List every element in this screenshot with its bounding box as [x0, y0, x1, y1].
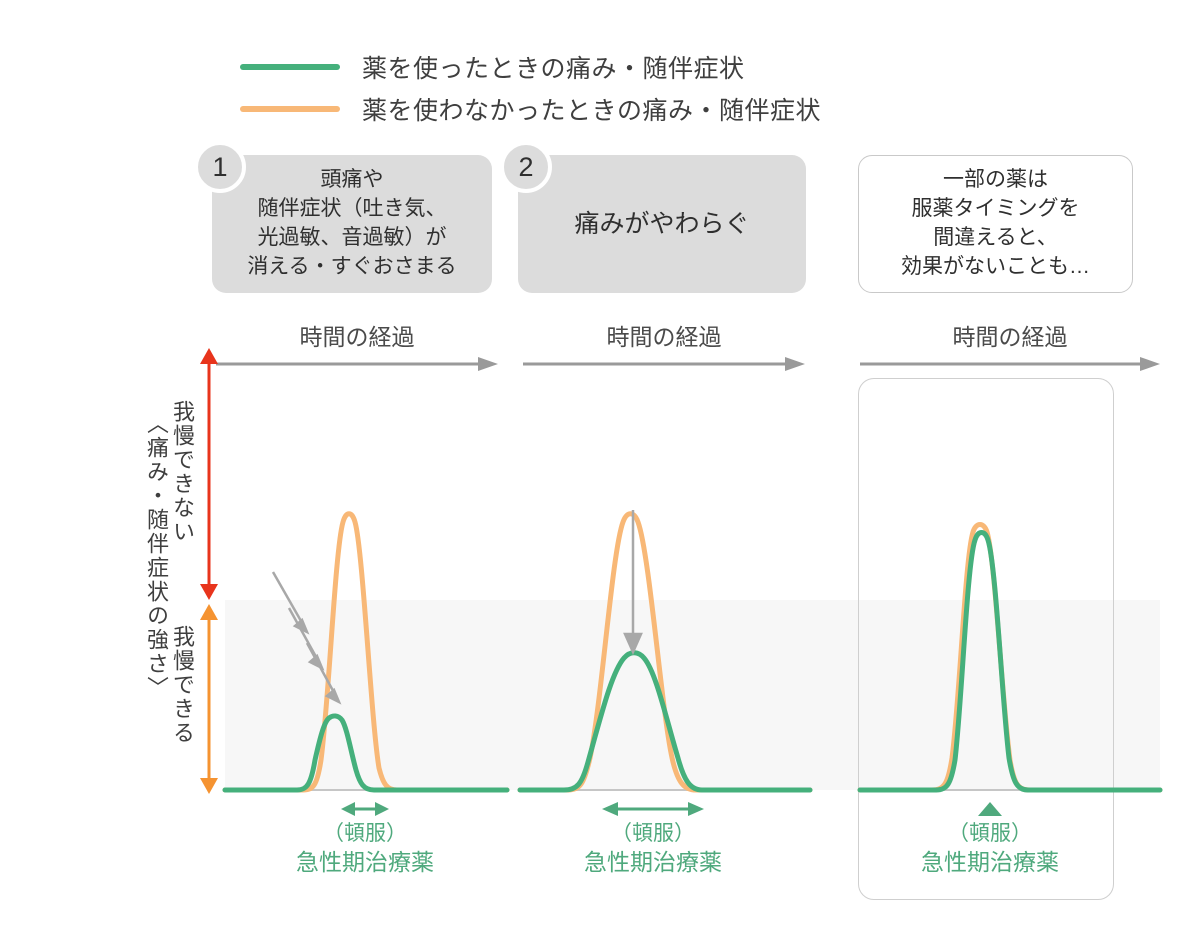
step-text-1: 頭痛や 随伴症状（吐き気、 光過敏、音過敏）が 消える・すぐおさまる: [237, 166, 466, 282]
dose-group-panel-2: （頓服） 急性期治療薬: [548, 798, 758, 878]
step-badge-2: 2: [500, 141, 552, 193]
step-text-3: 一部の薬は 服薬タイミングを 間違えると、 効果がないことも…: [891, 166, 1100, 282]
double-arrow-short-icon: [265, 798, 465, 820]
time-arrow-icon-3: [860, 356, 1160, 372]
legend-swatch-with-medicine: [240, 64, 340, 70]
y-axis-arrows: [196, 348, 222, 800]
dose-marker-3: [885, 798, 1095, 820]
dose-label-line1-2: （頓服）: [548, 820, 758, 847]
legend-item-without-medicine: 薬を使わなかったときの痛み・随伴症状: [240, 88, 960, 130]
legend-swatch-without-medicine: [240, 106, 340, 112]
y-axis-arrow-bearable: [200, 604, 218, 794]
double-arrow-long-icon: [548, 798, 758, 820]
step-badge-1: 1: [194, 141, 246, 193]
step-box-3: 一部の薬は 服薬タイミングを 間違えると、 効果がないことも…: [858, 155, 1133, 293]
step-box-1: 1 頭痛や 随伴症状（吐き気、 光過敏、音過敏）が 消える・すぐおさまる: [212, 155, 492, 293]
dose-label-line2-2: 急性期治療薬: [548, 847, 758, 878]
y-axis-segment-label-unbearable: 我慢できない: [166, 400, 198, 544]
time-axis-panel-1: 時間の経過: [216, 318, 498, 374]
y-axis-segment-label-bearable: 我慢できる: [166, 625, 198, 745]
y-axis-arrow-unbearable: [200, 348, 218, 600]
time-axis-label-3: 時間の経過: [860, 318, 1160, 352]
dose-group-panel-3: （頓服） 急性期治療薬: [885, 798, 1095, 878]
legend-label-without-medicine: 薬を使わなかったときの痛み・随伴症状: [362, 91, 821, 127]
triangle-up-icon: [885, 798, 1095, 820]
time-axis-panel-2: 時間の経過: [523, 318, 805, 374]
dose-label-line1-1: （頓服）: [265, 820, 465, 847]
legend: 薬を使ったときの痛み・随伴症状 薬を使わなかったときの痛み・随伴症状: [240, 46, 960, 130]
curve-with-medicine-1: [225, 716, 507, 790]
time-arrow-icon-2: [523, 356, 805, 372]
curve-with-medicine-3: [860, 533, 1160, 791]
time-axis-panel-3: 時間の経過: [860, 318, 1160, 374]
dose-label-line1-3: （頓服）: [885, 820, 1095, 847]
legend-item-with-medicine: 薬を使ったときの痛み・随伴症状: [240, 46, 960, 88]
plot-panel-2: [520, 400, 810, 798]
plot-panel-3: [860, 400, 1160, 798]
infographic-root: 薬を使ったときの痛み・随伴症状 薬を使わなかったときの痛み・随伴症状 1 頭痛や…: [0, 0, 1200, 940]
curve-without-medicine-1: [225, 514, 507, 790]
time-axis-label-1: 時間の経過: [216, 318, 498, 352]
legend-label-with-medicine: 薬を使ったときの痛み・随伴症状: [362, 49, 745, 85]
dose-marker-2: [548, 798, 758, 820]
curve-without-medicine-2: [520, 514, 810, 790]
step-box-2: 2 痛みがやわらぐ: [518, 155, 806, 293]
time-axis-label-2: 時間の経過: [523, 318, 805, 352]
dose-label-line2-3: 急性期治療薬: [885, 847, 1095, 878]
dose-group-panel-1: （頓服） 急性期治療薬: [265, 798, 465, 878]
plot-panel-1: [225, 400, 507, 798]
step-text-2: 痛みがやわらぐ: [564, 207, 759, 242]
dose-label-line2-1: 急性期治療薬: [265, 847, 465, 878]
time-arrow-icon-1: [216, 356, 498, 372]
dose-marker-1: [265, 798, 465, 820]
